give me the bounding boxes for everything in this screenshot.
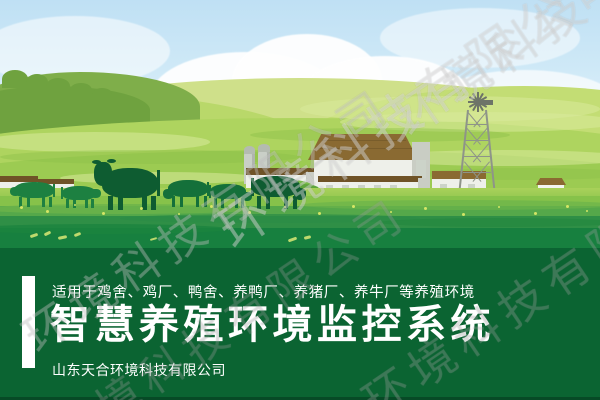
cow-3-large (96, 158, 160, 210)
windmill-tower (460, 110, 494, 192)
title-banner: 适用于鸡舍、鸡厂、鸭舍、养鸭厂、养猪厂、养牛厂等养殖环境 智慧养殖环境监控系统 … (0, 248, 600, 400)
cow-1 (14, 182, 56, 208)
cow-2 (62, 186, 98, 210)
page-title: 智慧养殖环境监控系统 (50, 301, 495, 349)
windmill-vane (480, 100, 493, 105)
accent-bar (22, 276, 35, 368)
farm-illustration (0, 0, 600, 250)
windmill (460, 92, 494, 192)
banner-subtitle: 适用于鸡舍、鸡厂、鸭舍、养鸭厂、养猪厂、养牛厂等养殖环境 (52, 281, 475, 302)
cow-5 (208, 184, 248, 210)
product-poster: 适用于鸡舍、鸡厂、鸭舍、养鸭厂、养猪厂、养牛厂等养殖环境 智慧养殖环境监控系统 … (0, 0, 600, 400)
cow-6 (250, 176, 302, 210)
company-name: 山东天合环境科技有限公司 (52, 360, 226, 380)
cow-4 (166, 180, 210, 208)
